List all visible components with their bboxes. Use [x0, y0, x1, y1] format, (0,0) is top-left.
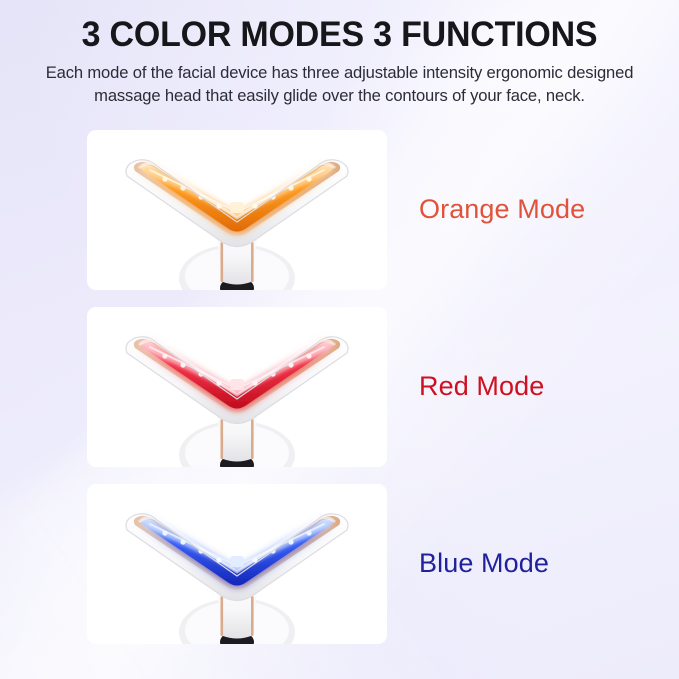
- facial-device-red-icon: [87, 307, 387, 467]
- header: 3 COLOR MODES 3 FUNCTIONS Each mode of t…: [0, 0, 679, 107]
- mode-row-red: Red Mode: [0, 298, 679, 475]
- infographic-page: 3 COLOR MODES 3 FUNCTIONS Each mode of t…: [0, 0, 679, 679]
- product-image-card-red: [87, 307, 387, 467]
- facial-device-orange-icon: [87, 130, 387, 290]
- mode-row-orange: Orange Mode: [0, 121, 679, 298]
- page-subtitle: Each mode of the facial device has three…: [40, 61, 640, 107]
- mode-row-blue: Blue Mode: [0, 475, 679, 652]
- mode-label-orange: Orange Mode: [419, 194, 585, 225]
- mode-list: Orange Mode: [0, 121, 679, 652]
- product-image-card-orange: [87, 130, 387, 290]
- page-title: 3 COLOR MODES 3 FUNCTIONS: [10, 17, 669, 52]
- mode-label-red: Red Mode: [419, 371, 544, 402]
- product-image-card-blue: [87, 484, 387, 644]
- facial-device-blue-icon: [87, 484, 387, 644]
- mode-label-blue: Blue Mode: [419, 548, 549, 579]
